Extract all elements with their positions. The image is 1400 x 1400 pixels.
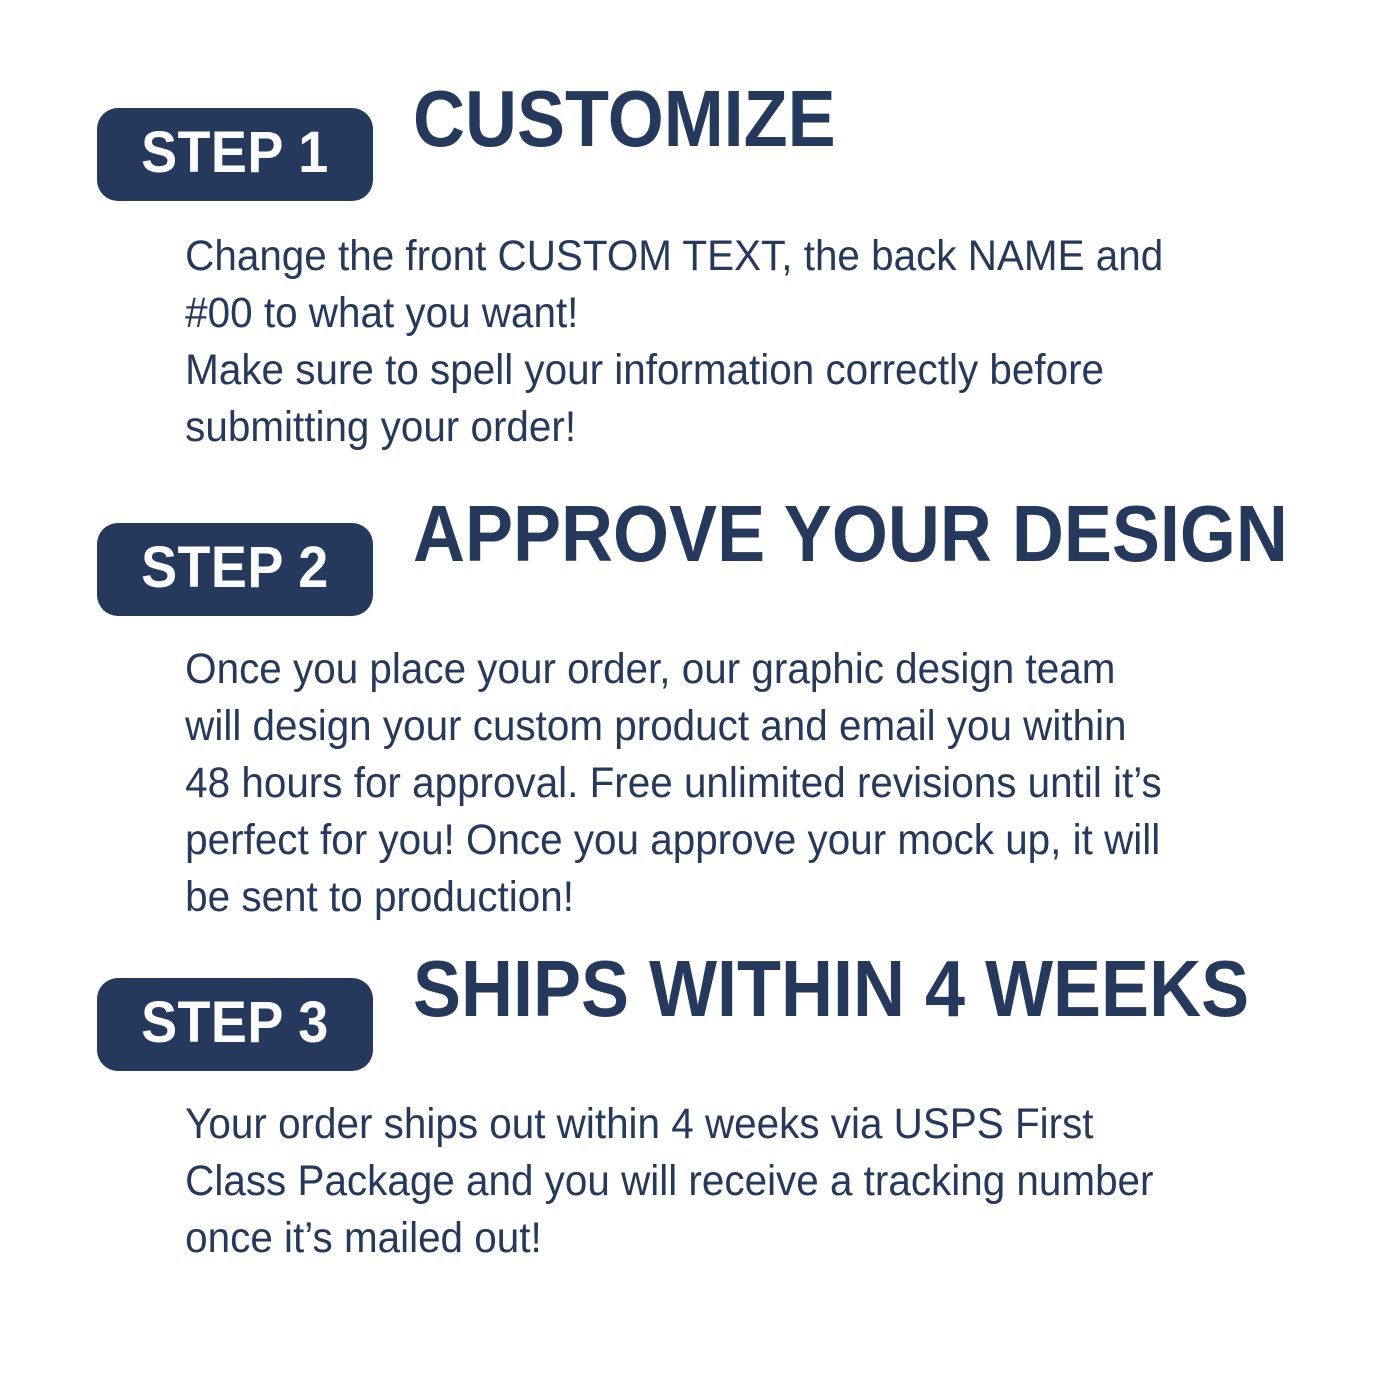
step-title-2: APPROVE YOUR DESIGN [413, 494, 1288, 574]
instructions-page: STEP 1 CUSTOMIZE Change the front CUSTOM… [0, 0, 1400, 1400]
step-body-3: Your order ships out within 4 weeks via … [0, 1096, 1316, 1267]
step-block-2: STEP 2 APPROVE YOUR DESIGN Once you plac… [0, 519, 1400, 926]
step-badge-label-2: STEP 2 [141, 539, 329, 597]
step-badge-label-1: STEP 1 [141, 124, 329, 182]
step-badge-label-3: STEP 3 [141, 994, 329, 1052]
step-title-3: SHIPS WITHIN 4 WEEKS [413, 949, 1249, 1029]
step-badge-3: STEP 3 [97, 978, 373, 1071]
step-title-1: CUSTOMIZE [413, 79, 836, 159]
step-body-2: Once you place your order, our graphic d… [0, 641, 1316, 926]
step-header-2: STEP 2 APPROVE YOUR DESIGN [0, 519, 1400, 619]
step-header-1: STEP 1 CUSTOMIZE [0, 104, 1400, 204]
step-badge-1: STEP 1 [97, 108, 373, 201]
step-block-3: STEP 3 SHIPS WITHIN 4 WEEKS Your order s… [0, 974, 1400, 1267]
step-header-3: STEP 3 SHIPS WITHIN 4 WEEKS [0, 974, 1400, 1074]
step-block-1: STEP 1 CUSTOMIZE Change the front CUSTOM… [0, 104, 1400, 456]
step-badge-2: STEP 2 [97, 523, 373, 616]
step-body-1: Change the front CUSTOM TEXT, the back N… [0, 228, 1316, 456]
